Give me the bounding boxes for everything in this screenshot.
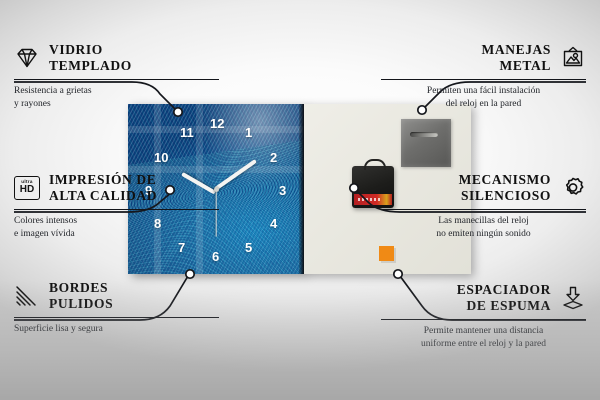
- clock-numeral: 11: [180, 126, 194, 139]
- callout-foam-spacer[interactable]: ESPACIADOR DE ESPUMA Permite mantener un…: [381, 282, 586, 351]
- callout-subtitle: Superficie lisa y segura: [14, 323, 219, 336]
- callout-subtitle: Permiten una fácil instalación del reloj…: [381, 85, 586, 111]
- callout-subtitle: Permite mantener una distancia uniforme …: [381, 325, 586, 351]
- diagonal-lines-icon: [14, 283, 40, 309]
- clock-numeral: 7: [178, 241, 185, 254]
- ultra-hd-icon: ultra HD: [14, 175, 40, 201]
- callout-tempered-glass[interactable]: VIDRIO TEMPLADO Resistencia a grietas y …: [14, 42, 219, 111]
- callout-header: ESPACIADOR DE ESPUMA: [381, 282, 586, 314]
- callout-title: MANEJAS METAL: [482, 42, 551, 74]
- callout-header: MECANISMO SILENCIOSO: [381, 172, 586, 204]
- callout-header: VIDRIO TEMPLADO: [14, 42, 219, 74]
- callout-divider: [381, 319, 586, 321]
- callout-metal-hangers[interactable]: MANEJAS METAL Permiten una fácil instala…: [381, 42, 586, 111]
- callout-title: MECANISMO SILENCIOSO: [459, 172, 551, 204]
- callout-polished-edges[interactable]: BORDES PULIDOS Superficie lisa y segura: [14, 280, 219, 336]
- clock-numeral: 3: [279, 184, 286, 197]
- diamond-icon: [14, 45, 40, 71]
- callout-divider: [14, 79, 219, 81]
- callout-hd-print[interactable]: ultra HD IMPRESIÓN DE ALTA CALIDAD Color…: [14, 172, 219, 241]
- mechanism-loop: [364, 159, 386, 170]
- callout-header: BORDES PULIDOS: [14, 280, 219, 312]
- callout-title: IMPRESIÓN DE ALTA CALIDAD: [49, 172, 157, 204]
- callout-header: ultra HD IMPRESIÓN DE ALTA CALIDAD: [14, 172, 219, 204]
- clock-numeral: 4: [270, 217, 277, 230]
- clock-numeral: 5: [245, 241, 252, 254]
- callout-silent-mechanism[interactable]: MECANISMO SILENCIOSO Las manecillas del …: [381, 172, 586, 241]
- callout-title: ESPACIADOR DE ESPUMA: [457, 282, 551, 314]
- callout-divider: [381, 209, 586, 211]
- callout-subtitle: Las manecillas del reloj no emiten ningú…: [381, 215, 586, 241]
- callout-divider: [381, 79, 586, 81]
- metal-hanger-part: [401, 119, 451, 167]
- clock-numeral: 10: [154, 151, 168, 164]
- callout-divider: [14, 317, 219, 319]
- callout-title: VIDRIO TEMPLADO: [49, 42, 132, 74]
- callout-subtitle: Colores intensos e imagen vívida: [14, 215, 219, 241]
- callout-subtitle: Resistencia a grietas y rayones: [14, 85, 219, 111]
- clock-numeral: 6: [212, 250, 219, 263]
- callout-title: BORDES PULIDOS: [49, 280, 113, 312]
- infographic-canvas: 12 1 2 3 4 5 6 7 8 9 10 11: [0, 0, 600, 400]
- clock-numeral: 2: [270, 151, 277, 164]
- gear-icon: [560, 175, 586, 201]
- callout-header: MANEJAS METAL: [381, 42, 586, 74]
- picture-frame-icon: [560, 45, 586, 71]
- arrow-down-pad-icon: [560, 285, 586, 311]
- clock-numeral: 12: [210, 117, 224, 130]
- callout-divider: [14, 209, 219, 211]
- ultra-hd-icon-main-text: HD: [20, 185, 34, 195]
- hanger-slot: [410, 132, 438, 137]
- clock-numeral: 1: [245, 126, 252, 139]
- foam-spacer-part: [379, 246, 394, 261]
